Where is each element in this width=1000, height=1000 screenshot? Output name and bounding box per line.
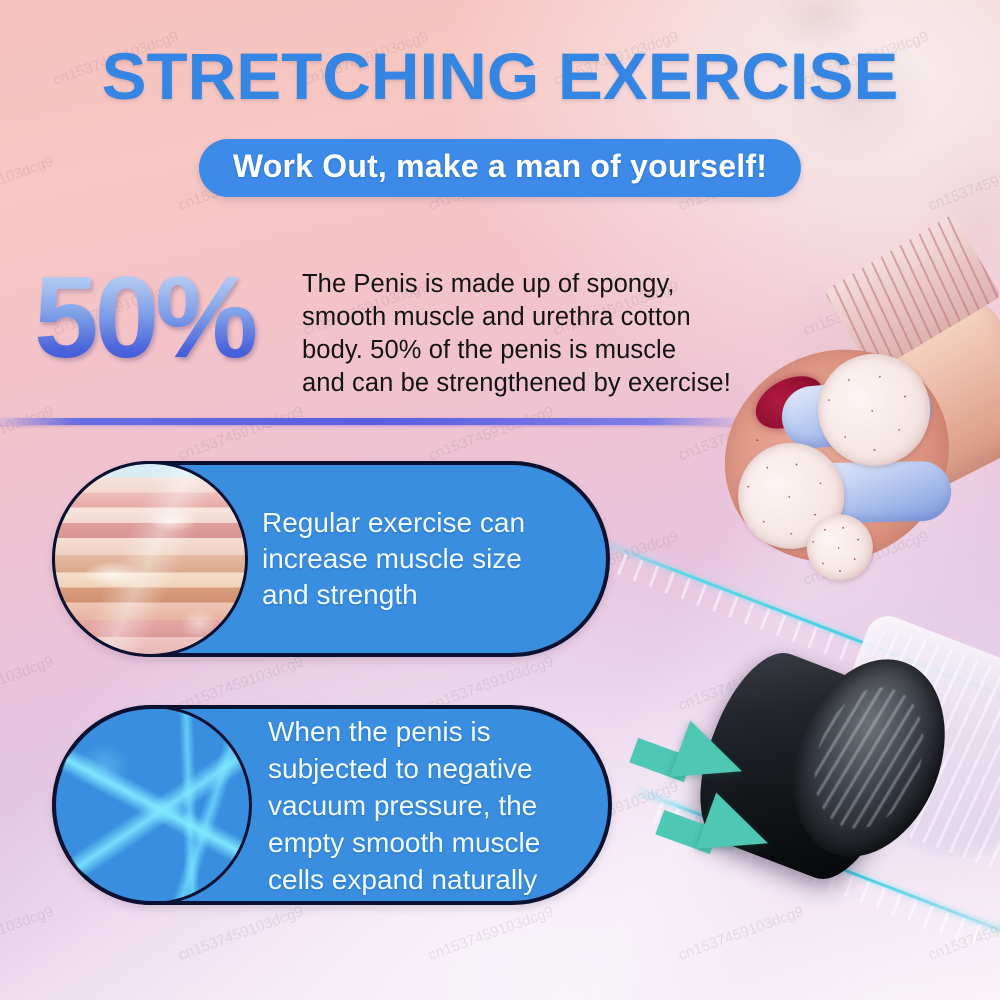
card1-line-1: Regular exercise can (262, 505, 525, 541)
subtitle-banner: Work Out, make a man of yourself! (199, 139, 801, 197)
neuron-cells-image (52, 705, 252, 905)
promo-poster: cn1537459103dcg9cn1537459103dcg9cn153745… (0, 0, 1000, 1000)
card2-line-5: cells expand naturally (268, 861, 540, 898)
skin-layers-image (52, 461, 248, 657)
page-title: STRETCHING EXERCISE (0, 38, 1000, 114)
stat-block: 50% (34, 258, 296, 390)
card2-line-2: subjected to negative (268, 750, 540, 787)
vacuum-pump-cylinder-illustration (690, 630, 1000, 940)
feature-card-exercise-text: Regular exercise can increase muscle siz… (262, 505, 551, 613)
card1-line-3: and strength (262, 577, 525, 613)
section-divider (0, 418, 742, 425)
feature-card-exercise: Regular exercise can increase muscle siz… (52, 461, 610, 657)
subtitle-text: Work Out, make a man of yourself! (233, 148, 767, 185)
neuron-cells-graphic (55, 708, 249, 902)
card2-line-3: vacuum pressure, the (268, 787, 540, 824)
feature-card-vacuum-text: When the penis is subjected to negative … (268, 713, 566, 898)
card2-line-4: empty smooth muscle (268, 824, 540, 861)
stat-value: 50% (34, 258, 296, 376)
feature-card-vacuum: When the penis is subjected to negative … (52, 705, 612, 905)
card2-line-1: When the penis is (268, 713, 540, 750)
card1-line-2: increase muscle size (262, 541, 525, 577)
skin-layers-graphic (55, 464, 245, 654)
intro-line-1: The Penis is made up of spongy, (302, 268, 782, 301)
